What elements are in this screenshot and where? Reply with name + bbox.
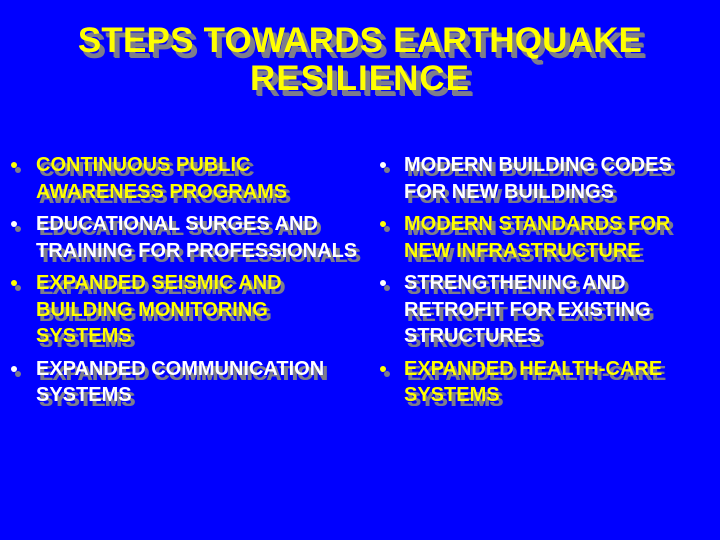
- bullet-dot-icon: [11, 280, 17, 286]
- list-item: CONTINUOUS PUBLIC AWARENESS PROGRAMS: [6, 152, 358, 205]
- slide-title: STEPS TOWARDS EARTHQUAKE RESILIENCE: [18, 22, 702, 98]
- bullet-column-left: CONTINUOUS PUBLIC AWARENESS PROGRAMS EDU…: [6, 152, 358, 415]
- list-item: STRENGTHENING AND RETROFIT FOR EXISTING …: [372, 270, 716, 350]
- list-item-label: MODERN BUILDING CODES FOR NEW BUILDINGS: [404, 152, 716, 205]
- list-item-label: EXPANDED COMMUNICATION SYSTEMS: [36, 356, 358, 409]
- bullet-dot-icon: [380, 221, 386, 227]
- list-item: MODERN BUILDING CODES FOR NEW BUILDINGS: [372, 152, 716, 205]
- bullet-dot-icon: [380, 366, 386, 372]
- slide-title-line-2: RESILIENCE: [18, 60, 702, 98]
- list-item: EXPANDED SEISMIC AND BUILDING MONITORING…: [6, 270, 358, 350]
- list-item-label: STRENGTHENING AND RETROFIT FOR EXISTING …: [404, 270, 716, 350]
- list-item-label: EXPANDED HEALTH-CARE SYSTEMS: [404, 356, 716, 409]
- list-item-label: EDUCATIONAL SURGES AND TRAINING FOR PROF…: [36, 211, 358, 264]
- bullet-dot-icon: [380, 162, 386, 168]
- list-item: EXPANDED HEALTH-CARE SYSTEMS: [372, 356, 716, 409]
- bullet-dot-icon: [11, 366, 17, 372]
- list-item: MODERN STANDARDS FOR NEW INFRASTRUCTURE: [372, 211, 716, 264]
- list-item-label: CONTINUOUS PUBLIC AWARENESS PROGRAMS: [36, 152, 358, 205]
- bullet-dot-icon: [11, 221, 17, 227]
- bullet-column-right: MODERN BUILDING CODES FOR NEW BUILDINGS …: [372, 152, 716, 415]
- list-item-label: MODERN STANDARDS FOR NEW INFRASTRUCTURE: [404, 211, 716, 264]
- list-item: EXPANDED COMMUNICATION SYSTEMS: [6, 356, 358, 409]
- bullet-dot-icon: [380, 280, 386, 286]
- bullet-dot-icon: [11, 162, 17, 168]
- list-item-label: EXPANDED SEISMIC AND BUILDING MONITORING…: [36, 270, 358, 350]
- list-item: EDUCATIONAL SURGES AND TRAINING FOR PROF…: [6, 211, 358, 264]
- presentation-slide: STEPS TOWARDS EARTHQUAKE RESILIENCE CONT…: [0, 0, 720, 540]
- slide-title-line-1: STEPS TOWARDS EARTHQUAKE: [18, 22, 702, 60]
